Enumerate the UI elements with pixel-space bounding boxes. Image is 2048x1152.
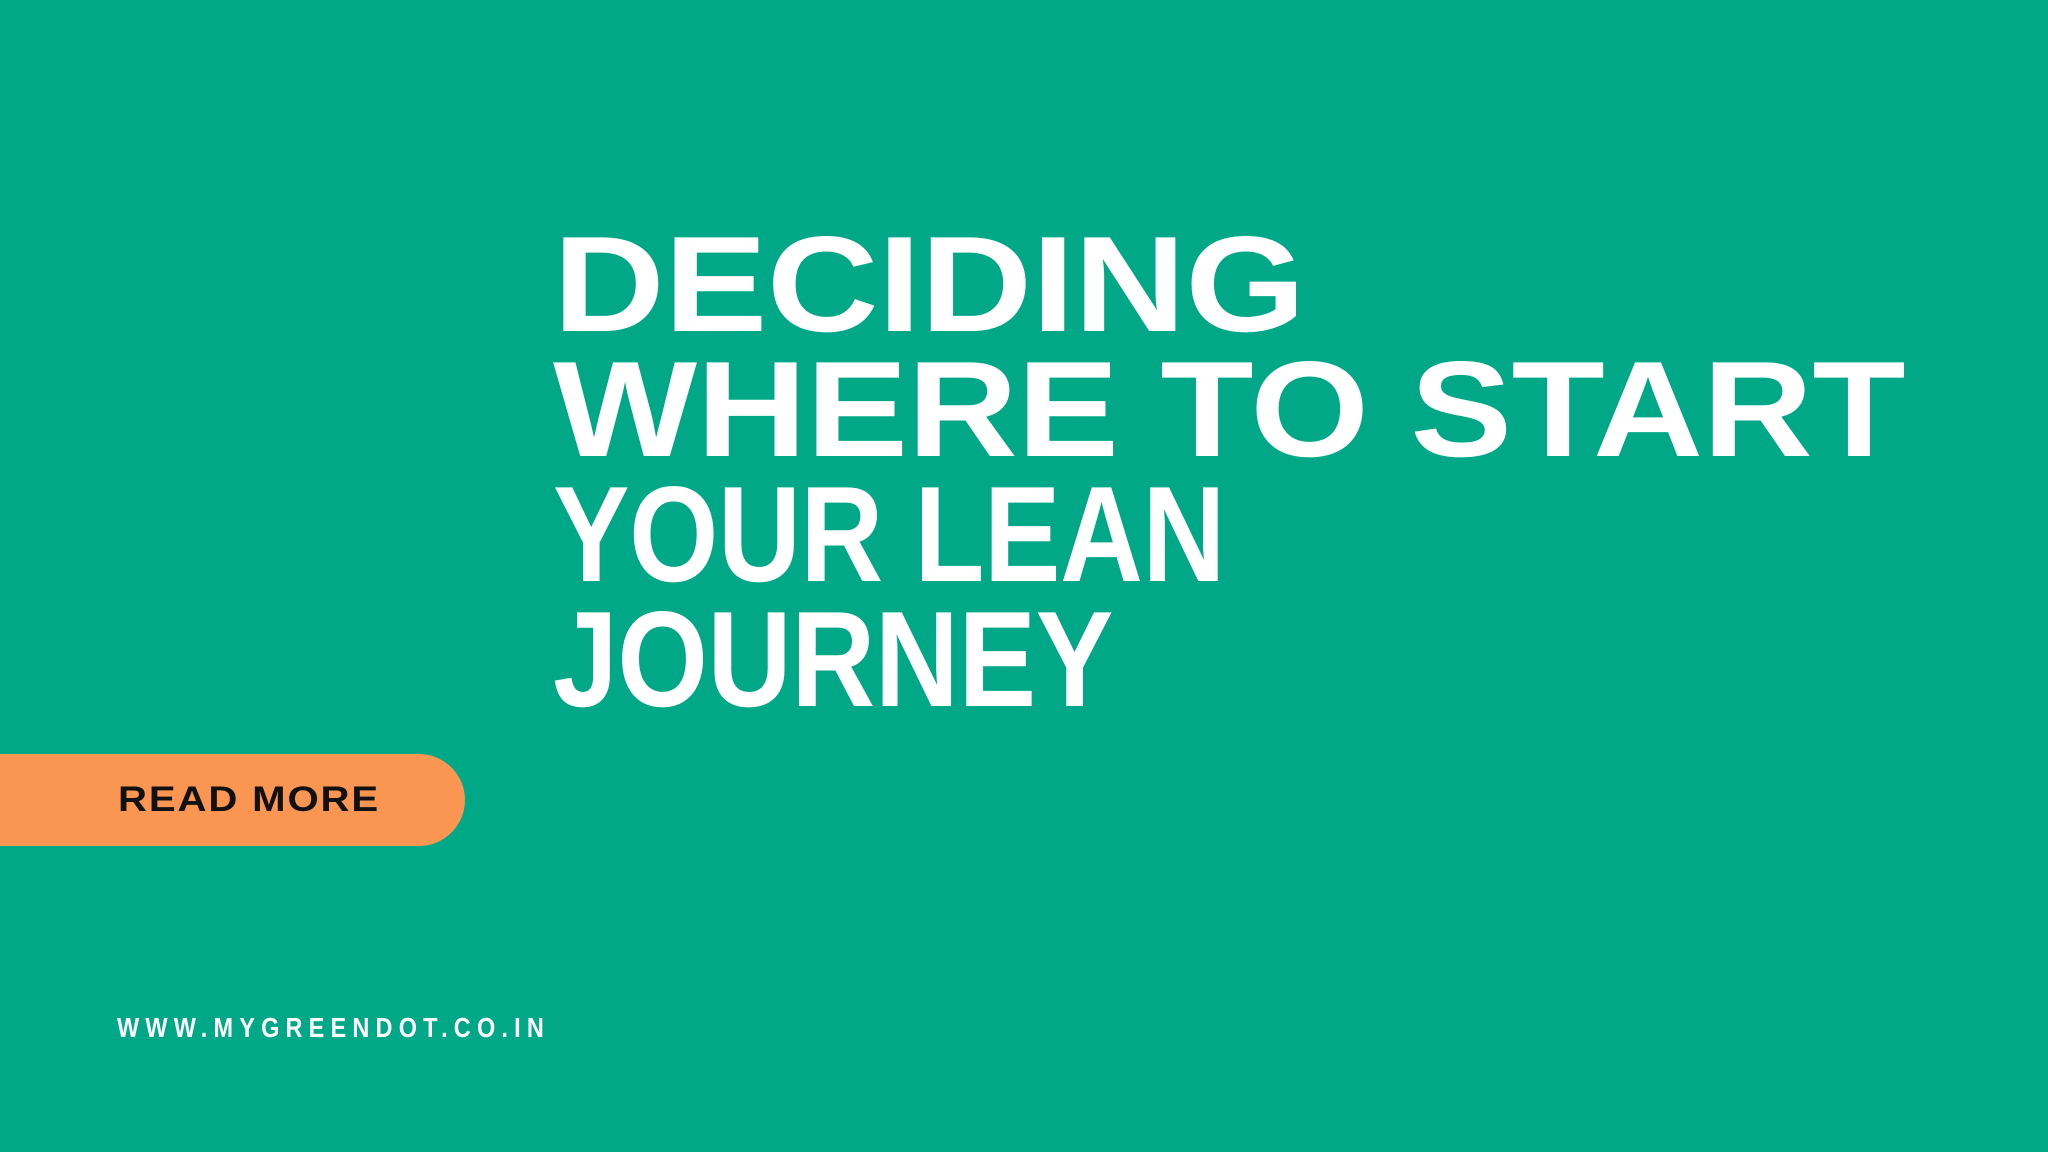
headline-line-2: WHERE TO START: [553, 347, 1973, 472]
headline-line-2-text: WHERE TO START: [553, 347, 1905, 472]
promo-banner: DECIDING WHERE TO START YOUR LEAN JOURNE…: [0, 0, 2048, 1152]
read-more-button[interactable]: READ MORE: [0, 754, 465, 846]
headline-line-3-text: YOUR LEAN: [553, 472, 1225, 597]
headline-line-1-text: DECIDING: [553, 222, 1305, 347]
read-more-label: READ MORE: [118, 754, 380, 846]
site-url: WWW.MYGREENDOT.CO.IN: [117, 1012, 550, 1044]
headline-line-4: JOURNEY: [553, 597, 1973, 722]
page-title: DECIDING WHERE TO START YOUR LEAN JOURNE…: [553, 222, 1973, 722]
headline-line-1: DECIDING: [553, 222, 1973, 347]
headline-line-4-text: JOURNEY: [553, 597, 1113, 722]
headline-line-3: YOUR LEAN: [553, 472, 1973, 597]
